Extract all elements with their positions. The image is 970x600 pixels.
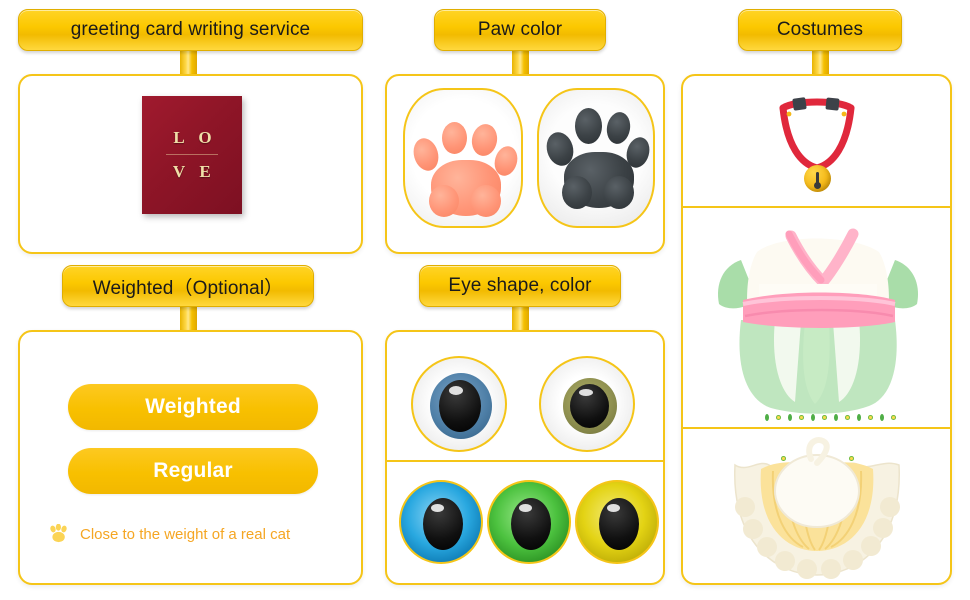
eye-swatch-blue-realistic[interactable]	[411, 356, 507, 452]
flower-icon	[822, 415, 827, 420]
glint	[607, 504, 620, 512]
toe-pad	[469, 122, 499, 158]
option-regular[interactable]: Regular	[68, 448, 318, 494]
weighted-note: Close to the weight of a real cat	[48, 524, 290, 544]
eye-swatch-green-glass[interactable]	[487, 480, 571, 564]
leaf-icon	[880, 414, 884, 421]
flower-icon	[868, 415, 873, 420]
greeting-card-image: L O V E	[142, 96, 242, 214]
panel-costumes	[681, 74, 952, 585]
label-paw-color: Paw color	[434, 9, 606, 51]
main-pad-lobe	[562, 176, 592, 209]
paw-icon	[48, 524, 70, 544]
panel-paw-color	[385, 74, 665, 254]
label-costumes: Costumes	[738, 9, 902, 51]
panel-weighted: Weighted Regular Close to the weight of …	[18, 330, 363, 585]
label-text: Eye shape, color	[428, 275, 611, 297]
glint	[449, 386, 463, 395]
lace-collar-icon	[683, 429, 950, 584]
glint	[431, 504, 444, 512]
option-weighted[interactable]: Weighted	[68, 384, 318, 430]
leaf-icon	[811, 414, 815, 421]
main-pad-lobe	[604, 176, 634, 209]
main-pad-lobe	[471, 185, 501, 217]
flower-icon	[799, 415, 804, 420]
card-letter-o: O	[198, 128, 211, 148]
flower-icon	[845, 415, 850, 420]
note-text: Close to the weight of a real cat	[80, 526, 290, 543]
paw-swatch-pink[interactable]	[403, 88, 523, 228]
leaf-icon	[834, 414, 838, 421]
flower-icon	[891, 415, 896, 420]
flower-icon	[776, 415, 781, 420]
embroidery-flowers	[765, 414, 896, 421]
toe-pad	[442, 122, 467, 154]
costume-green-hanfu-dress[interactable]	[683, 208, 950, 427]
card-letter-e: E	[199, 162, 210, 182]
glint	[579, 389, 593, 396]
eye-swatch-yellow-glass[interactable]	[575, 480, 659, 564]
label-greeting-card-writing-service: greeting card writing service	[18, 9, 363, 51]
leaf-icon	[857, 414, 861, 421]
dress-icon	[683, 208, 950, 427]
costume-red-collar[interactable]	[683, 76, 950, 206]
option-label: Regular	[153, 459, 233, 483]
eye-swatch-olive-realistic[interactable]	[539, 356, 635, 452]
paw-swatch-black[interactable]	[537, 88, 655, 228]
toe-pad	[575, 108, 602, 144]
label-text: Weighted（Optional）	[73, 273, 304, 300]
leaf-icon	[765, 414, 769, 421]
option-label: Weighted	[145, 395, 241, 419]
glint	[519, 504, 532, 512]
leaf-icon	[788, 414, 792, 421]
label-eye-shape-color: Eye shape, color	[419, 265, 621, 307]
toe-pad	[604, 110, 632, 146]
label-text: greeting card writing service	[51, 19, 330, 41]
card-letter-v: V	[173, 162, 185, 182]
label-weighted-optional: Weighted（Optional）	[62, 265, 314, 307]
eye-swatch-blue-glass[interactable]	[399, 480, 483, 564]
costumes-divider-1	[683, 206, 950, 208]
label-text: Paw color	[458, 19, 582, 41]
panel-greeting-card: L O V E	[18, 74, 363, 254]
costume-yellow-lace-collar[interactable]	[683, 429, 950, 584]
card-letter-l: L	[173, 128, 184, 148]
product-options-infographic: greeting card writing service L O V E We…	[0, 0, 970, 600]
bell-clapper	[814, 182, 821, 189]
label-text: Costumes	[757, 19, 883, 41]
eye-panel-divider	[387, 460, 663, 462]
main-pad-lobe	[429, 185, 459, 217]
card-letter-grid: L O V E	[166, 122, 218, 188]
panel-eye	[385, 330, 665, 585]
costumes-divider-2	[683, 427, 950, 429]
